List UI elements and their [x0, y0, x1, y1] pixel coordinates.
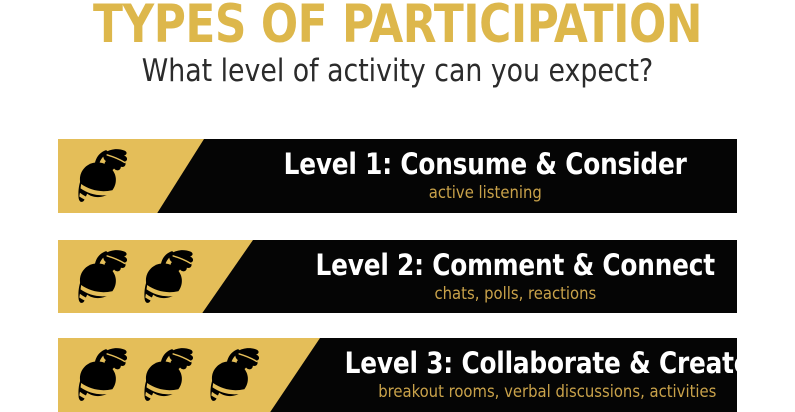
- level-bar-1[interactable]: Level 1: Consume & Consider active liste…: [58, 139, 737, 213]
- page-title: TYPES OF PARTICIPATION: [32, 0, 763, 56]
- level-1-subtext: active listening: [428, 182, 541, 204]
- acorn-icon: [70, 344, 132, 406]
- level-3-text-block: Level 3: Collaborate & Create breakout r…: [358, 338, 737, 412]
- acorn-row-1: [58, 139, 132, 213]
- acorn-row-3: [58, 338, 264, 412]
- level-bar-3[interactable]: Level 3: Collaborate & Create breakout r…: [58, 338, 737, 412]
- level-1-text-block: Level 1: Consume & Consider active liste…: [233, 139, 737, 213]
- level-bar-2[interactable]: Level 2: Comment & Connect chats, polls,…: [58, 240, 737, 313]
- level-2-subtext: chats, polls, reactions: [434, 283, 596, 305]
- acorn-icon: [136, 344, 198, 406]
- acorn-icon: [136, 246, 198, 308]
- level-2-text-block: Level 2: Comment & Connect chats, polls,…: [293, 240, 737, 313]
- level-2-heading: Level 2: Comment & Connect: [315, 249, 714, 282]
- acorn-row-2: [58, 240, 198, 313]
- header-block: TYPES OF PARTICIPATION What level of act…: [0, 0, 795, 118]
- acorn-icon: [202, 344, 264, 406]
- level-3-heading: Level 3: Collaborate & Create: [345, 347, 737, 380]
- acorn-icon: [70, 246, 132, 308]
- acorn-icon: [70, 145, 132, 207]
- page-subtitle: What level of activity can you expect?: [16, 52, 779, 90]
- level-3-subtext: breakout rooms, verbal discussions, acti…: [378, 381, 716, 403]
- level-1-heading: Level 1: Consume & Consider: [283, 148, 686, 181]
